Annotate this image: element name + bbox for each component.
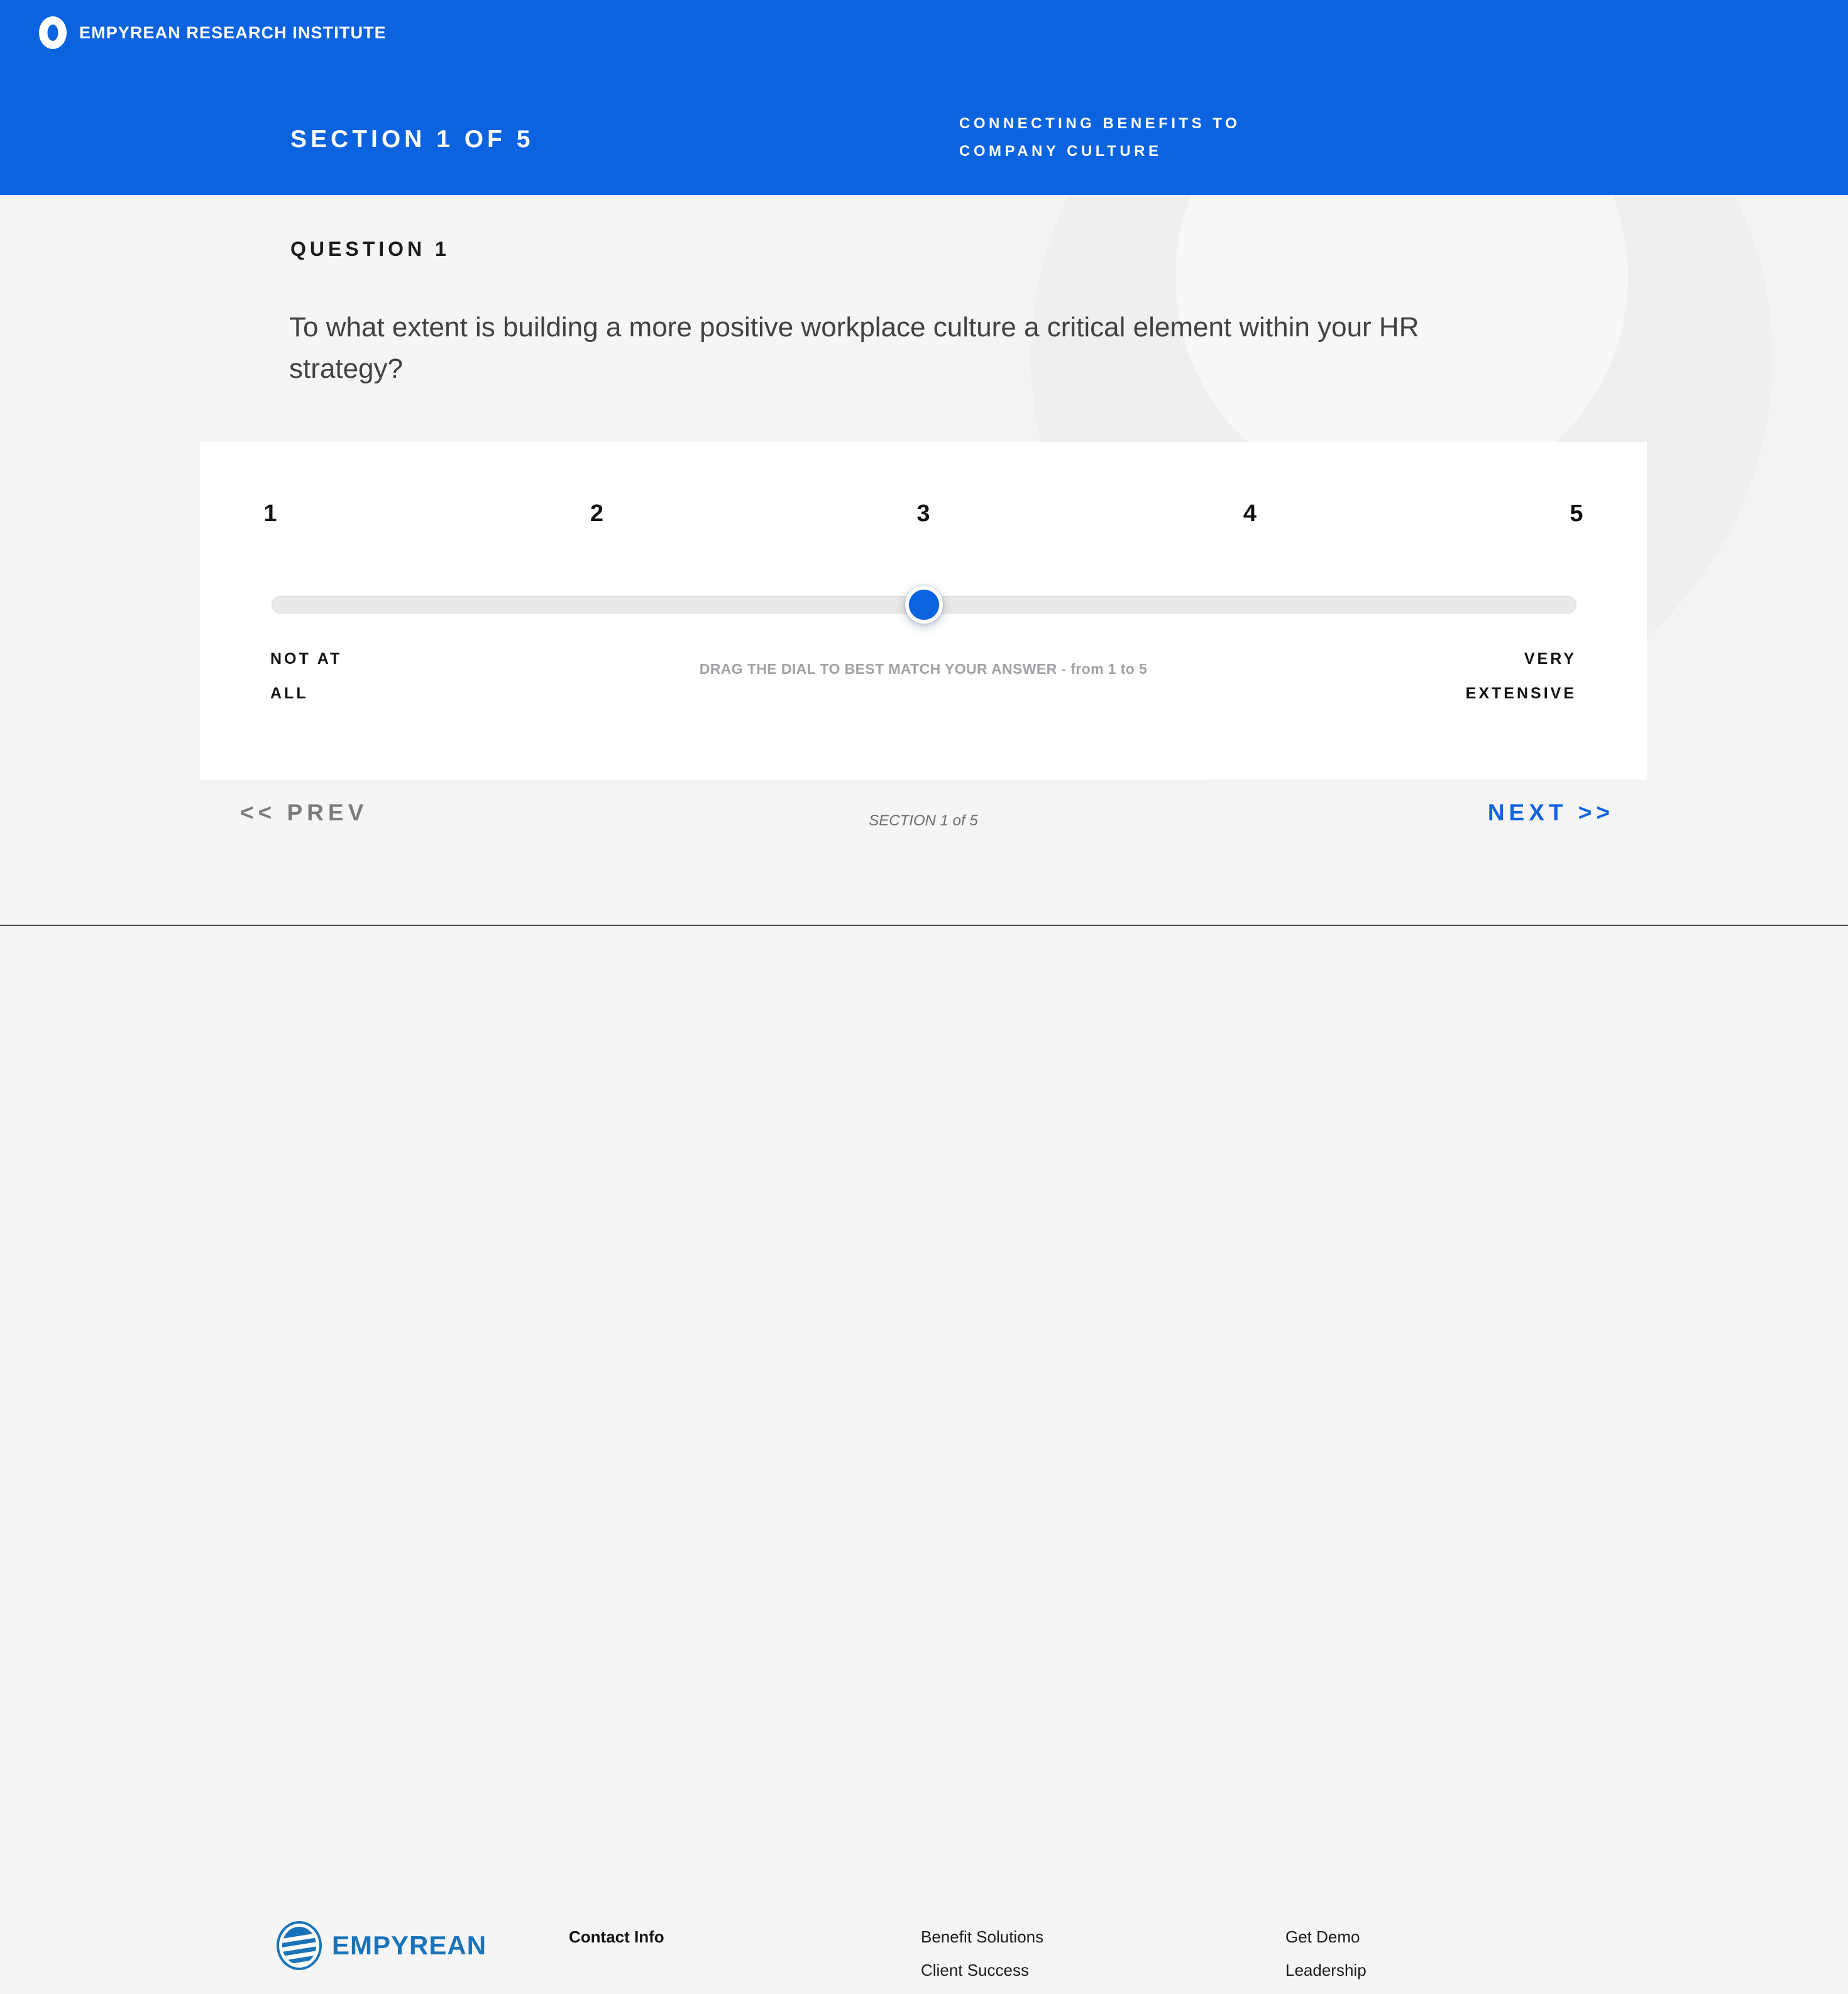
page-header: EMPYREAN RESEARCH INSTITUTE SECTION 1 OF… [0,0,1848,195]
brand[interactable]: EMPYREAN RESEARCH INSTITUTE [39,16,387,49]
section-indicator: SECTION 1 OF 5 [290,126,534,153]
scale-number-3: 3 [916,500,930,527]
empyrean-circle-emblem-icon [277,1921,322,1970]
slider-card: 1 2 3 4 5 NOT AT ALL VERY EXTENSIVE DRAG… [200,442,1647,779]
progress-label: SECTION 1 of 5 [200,812,1647,830]
header-row: SECTION 1 OF 5 CONNECTING BENEFITS TO CO… [0,110,1848,185]
footer-column-solutions: Benefit Solutions Client Success [921,1927,1043,1994]
page-footer: EMPYREAN Contact Info Benefit Solutions … [0,926,1848,1045]
question-label: QUESTION 1 [290,238,450,261]
slider-right-label-line2: EXTENSIVE [1466,676,1576,711]
slider-control[interactable] [272,596,1576,614]
brand-name: EMPYREAN RESEARCH INSTITUTE [79,23,387,43]
footer-logo[interactable]: EMPYREAN [277,1921,487,1970]
footer-link-benefit-solutions[interactable]: Benefit Solutions [921,1927,1043,1947]
tagline-line-2: COMPANY CULTURE [959,138,1525,165]
footer-column-contact: Contact Info [569,1927,664,1961]
scale-number-5: 5 [1570,500,1583,527]
question-text: To what extent is building a more positi… [289,307,1521,390]
footer-heading-contact[interactable]: Contact Info [569,1927,664,1947]
footer-logo-word: EMPYREAN [332,1931,487,1961]
ring-circle-icon [39,16,67,49]
next-button[interactable]: NEXT >> [1488,800,1614,826]
scale-number-2: 2 [590,500,603,527]
header-tagline: CONNECTING BENEFITS TO COMPANY CULTURE [959,110,1525,165]
footer-link-client-success[interactable]: Client Success [921,1961,1043,1980]
footer-column-company: Get Demo Leadership [1285,1927,1367,1994]
scale-number-1: 1 [263,500,277,527]
slider-thumb[interactable] [905,586,943,624]
tagline-line-1: CONNECTING BENEFITS TO [959,110,1525,138]
footer-link-get-demo[interactable]: Get Demo [1285,1927,1367,1947]
slider-hint: DRAG THE DIAL TO BEST MATCH YOUR ANSWER … [200,661,1647,678]
slider-left-label-line2: ALL [270,676,342,711]
survey-navigation: << PREV SECTION 1 of 5 NEXT >> [200,791,1647,847]
scale-number-4: 4 [1243,500,1257,527]
footer-link-leadership[interactable]: Leadership [1285,1961,1367,1980]
scale-numbers: 1 2 3 4 5 [270,500,1576,532]
